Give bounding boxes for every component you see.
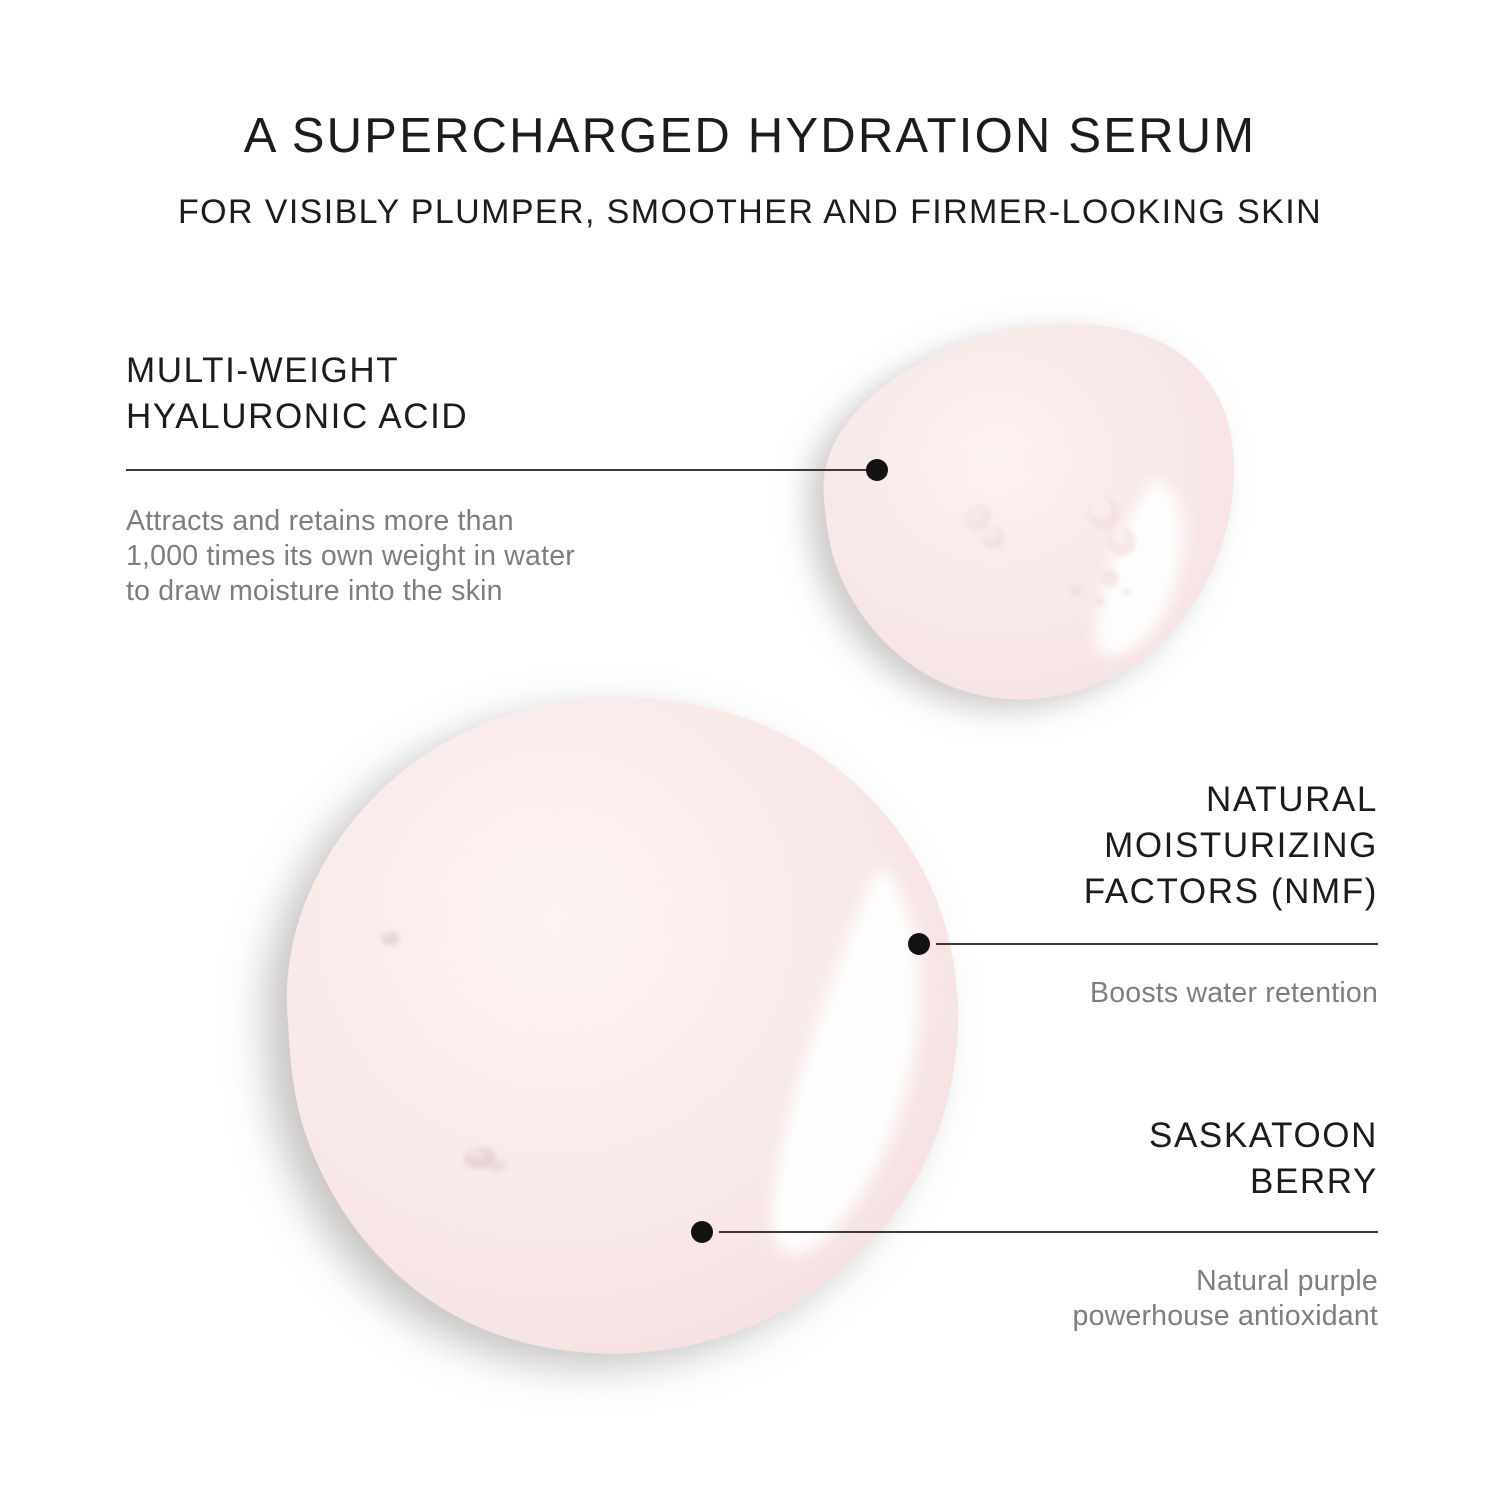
callout-rule-hyaluronic-acid — [126, 469, 878, 471]
leader-dot-hyaluronic-acid — [866, 459, 888, 481]
callout-heading-hyaluronic-acid: MULTI-WEIGHT HYALURONIC ACID — [126, 348, 746, 440]
callout-body-hyaluronic-acid: Attracts and retains more than 1,000 tim… — [126, 504, 766, 609]
page-subtitle: FOR VISIBLY PLUMPER, SMOOTHER AND FIRMER… — [0, 193, 1500, 232]
callout-body-saskatoon-berry: Natural purple powerhouse antioxidant — [878, 1264, 1378, 1334]
callout-rule-saskatoon-berry — [719, 1231, 1378, 1233]
callout-heading-saskatoon-berry: SASKATOON BERRY — [878, 1113, 1378, 1205]
callout-rule-nmf — [936, 943, 1378, 945]
infographic-canvas: A SUPERCHARGED HYDRATION SERUM FOR VISIB… — [0, 0, 1500, 1500]
leader-dot-saskatoon-berry — [691, 1221, 713, 1243]
page-title: A SUPERCHARGED HYDRATION SERUM — [0, 108, 1500, 164]
callout-heading-nmf: NATURAL MOISTURIZING FACTORS (NMF) — [878, 777, 1378, 915]
callout-body-nmf: Boosts water retention — [878, 976, 1378, 1011]
leader-dot-nmf — [908, 933, 930, 955]
